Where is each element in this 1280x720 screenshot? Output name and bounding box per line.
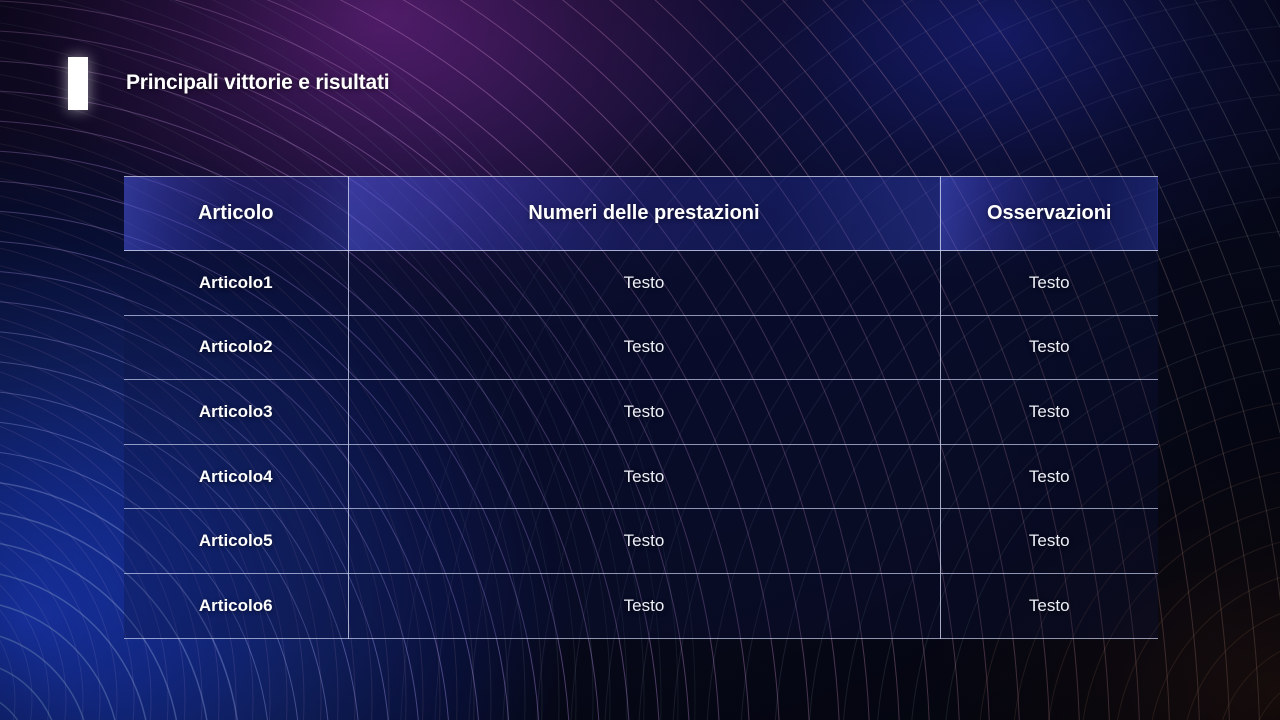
cell-articolo: Articolo1 — [124, 251, 348, 316]
cell-articolo: Articolo5 — [124, 509, 348, 574]
column-header-prestazioni: Numeri delle prestazioni — [348, 177, 940, 251]
cell-prestazioni: Testo — [348, 444, 940, 509]
cell-osservazioni: Testo — [940, 573, 1158, 638]
cell-articolo: Articolo2 — [124, 315, 348, 380]
accent-bar-icon — [68, 57, 88, 110]
table-row: Articolo3TestoTesto — [124, 380, 1158, 445]
results-table-container: Articolo Numeri delle prestazioni Osserv… — [124, 176, 1158, 638]
cell-prestazioni: Testo — [348, 380, 940, 445]
table-header: Articolo Numeri delle prestazioni Osserv… — [124, 177, 1158, 251]
table-row: Articolo2TestoTesto — [124, 315, 1158, 380]
table-row: Articolo1TestoTesto — [124, 251, 1158, 316]
column-header-osservazioni: Osservazioni — [940, 177, 1158, 251]
cell-osservazioni: Testo — [940, 251, 1158, 316]
cell-prestazioni: Testo — [348, 573, 940, 638]
cell-articolo: Articolo6 — [124, 573, 348, 638]
cell-osservazioni: Testo — [940, 444, 1158, 509]
column-header-articolo: Articolo — [124, 177, 348, 251]
cell-prestazioni: Testo — [348, 315, 940, 380]
cell-prestazioni: Testo — [348, 509, 940, 574]
table-row: Articolo5TestoTesto — [124, 509, 1158, 574]
cell-articolo: Articolo3 — [124, 380, 348, 445]
cell-osservazioni: Testo — [940, 509, 1158, 574]
page-title: Principali vittorie e risultati — [126, 71, 389, 95]
cell-osservazioni: Testo — [940, 380, 1158, 445]
title-row: Principali vittorie e risultati — [0, 0, 1280, 170]
cell-articolo: Articolo4 — [124, 444, 348, 509]
table-row: Articolo4TestoTesto — [124, 444, 1158, 509]
results-table: Articolo Numeri delle prestazioni Osserv… — [124, 176, 1158, 639]
table-body: Articolo1TestoTestoArticolo2TestoTestoAr… — [124, 251, 1158, 639]
table-row: Articolo6TestoTesto — [124, 573, 1158, 638]
table-header-row: Articolo Numeri delle prestazioni Osserv… — [124, 177, 1158, 251]
cell-prestazioni: Testo — [348, 251, 940, 316]
cell-osservazioni: Testo — [940, 315, 1158, 380]
slide-canvas: Principali vittorie e risultati Articolo… — [0, 0, 1280, 720]
